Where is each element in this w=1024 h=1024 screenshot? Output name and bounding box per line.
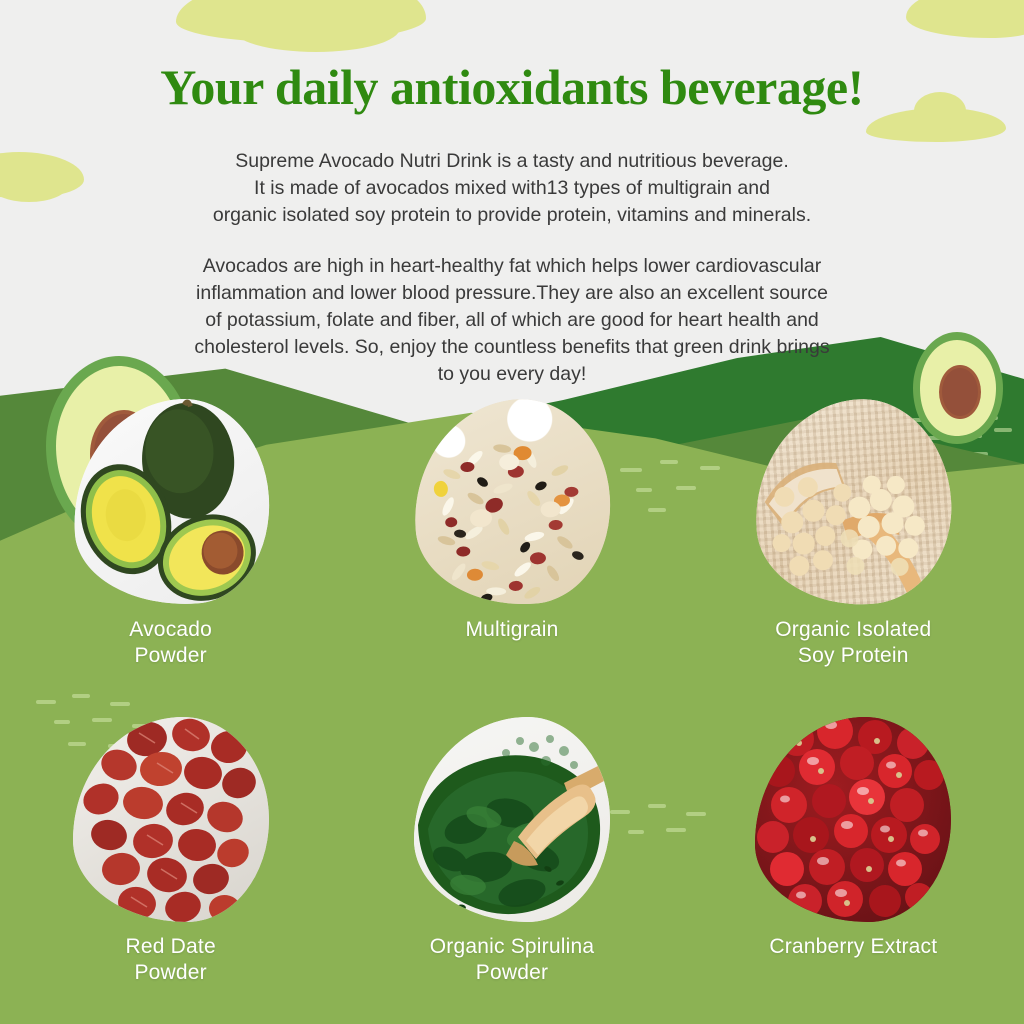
ingredient-label: Multigrain [465,617,558,643]
poster-canvas: Your daily antioxidants beverage! Suprem… [0,0,1024,1024]
ingredient-row-2: Red Date Powder [0,717,1024,986]
ingredient-card-soy-protein[interactable]: Organic Isolated Soy Protein [683,400,1024,669]
ingredient-grid: Avocado Powder [0,400,1024,986]
ingredient-card-avocado-powder[interactable]: Avocado Powder [0,400,341,669]
ingredient-card-cranberry-extract[interactable]: Cranberry Extract [683,717,1024,986]
blob-top-center-2-icon [232,4,400,52]
soy-protein-photo [748,393,958,611]
ingredient-label: Organic Spirulina Powder [430,934,594,986]
red-date-photo [73,717,269,922]
page-title: Your daily antioxidants beverage! [0,58,1024,116]
ingredient-label: Organic Isolated Soy Protein [775,617,931,669]
ingredient-label: Avocado Powder [129,617,212,669]
ingredient-card-red-date-powder[interactable]: Red Date Powder [0,717,341,986]
ingredient-label: Red Date Powder [126,934,216,986]
benefits-paragraph: Avocados are high in heart-healthy fat w… [0,253,1024,388]
ingredient-row-1: Avocado Powder [0,400,1024,669]
intro-paragraph: Supreme Avocado Nutri Drink is a tasty a… [0,148,1024,229]
ingredient-card-spirulina-powder[interactable]: Organic Spirulina Powder [341,717,682,986]
cranberry-photo [755,717,951,922]
spirulina-photo [414,717,610,922]
blob-top-right-icon [906,0,1024,38]
ingredient-label: Cranberry Extract [769,934,937,960]
ingredient-card-multigrain[interactable]: Multigrain [341,400,682,669]
multigrain-photo [407,393,617,611]
avocado-photo [66,393,276,611]
